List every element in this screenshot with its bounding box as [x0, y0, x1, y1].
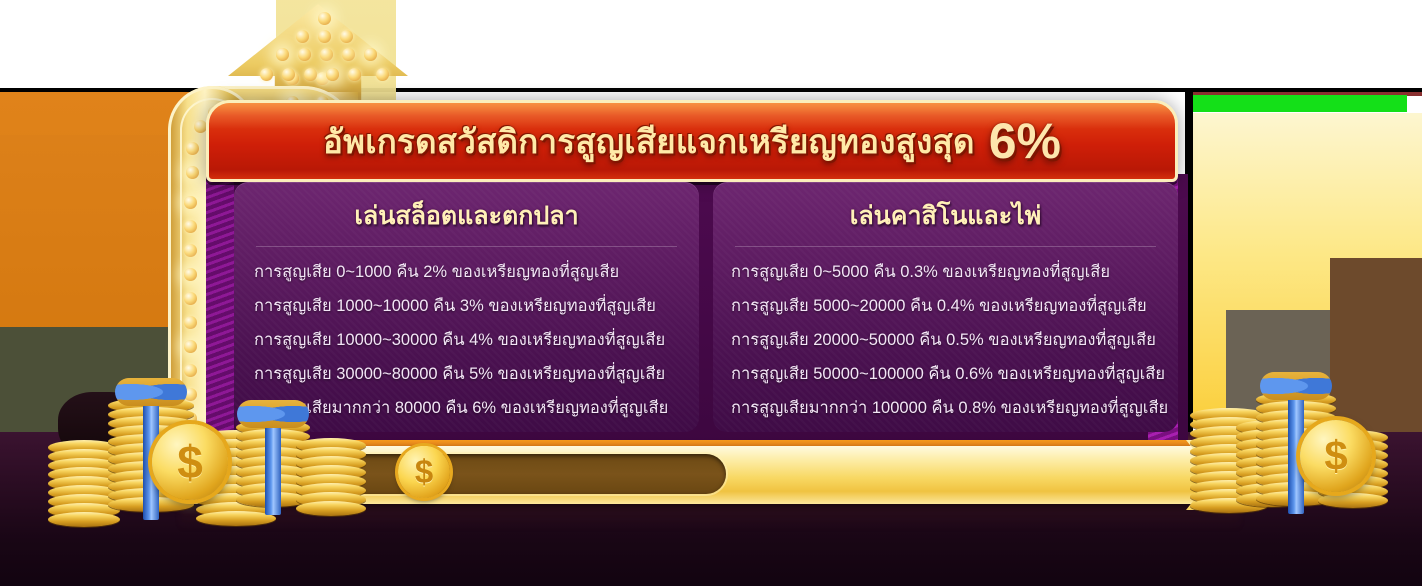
promo-title-percent: 6% — [989, 116, 1061, 166]
card-divider — [256, 246, 677, 247]
marquee-bulb — [296, 30, 309, 43]
list-item: การสูญเสีย 0~5000 คืน 0.3% ของเหรียญทองท… — [713, 255, 1178, 289]
card-rows-casino-cards: การสูญเสีย 0~5000 คืน 0.3% ของเหรียญทองท… — [713, 255, 1178, 425]
gift-bow — [1260, 372, 1332, 400]
marquee-bulb — [260, 68, 273, 81]
marquee-bulb — [376, 68, 389, 81]
promo-title-text: อัพเกรดสวัสดิการสูญเสียแจกเหรียญทองสูงสุ… — [323, 115, 975, 168]
coin-disc — [1318, 493, 1388, 508]
list-item: การสูญเสีย 5000~20000 คืน 0.4% ของเหรียญ… — [713, 289, 1178, 323]
marquee-bulb — [298, 48, 311, 61]
marquee-bulb — [186, 142, 199, 155]
card-rows-slots-fishing: การสูญเสีย 0~1000 คืน 2% ของเหรียญทองที่… — [234, 255, 699, 425]
list-item: การสูญเสีย 50000~100000 คืน 0.6% ของเหรี… — [713, 357, 1178, 391]
tier-card-group: เล่นสล็อตและตกปลา การสูญเสีย 0~1000 คืน … — [234, 182, 1178, 432]
card-title-slots-fishing: เล่นสล็อตและตกปลา — [234, 192, 699, 246]
background-brown-block — [1330, 258, 1422, 448]
marquee-bulb — [276, 48, 289, 61]
marquee-bulb — [282, 68, 295, 81]
promo-banner-stage: อัพเกรดสวัสดิการสูญเสียแจกเหรียญทองสูงสุ… — [0, 0, 1422, 586]
card-title-casino-cards: เล่นคาสิโนและไพ่ — [713, 192, 1178, 246]
marquee-bulb — [348, 68, 361, 81]
marquee-bulb — [364, 48, 377, 61]
tier-card-slots-fishing: เล่นสล็อตและตกปลา การสูญเสีย 0~1000 คืน … — [234, 182, 699, 432]
marquee-bulb — [184, 364, 197, 377]
marquee-bulb — [184, 292, 197, 305]
marquee-bulb — [184, 268, 197, 281]
marquee-bulb — [184, 220, 197, 233]
marquee-bulb — [340, 30, 353, 43]
marquee-bulb — [184, 196, 197, 209]
marquee-bulb — [326, 68, 339, 81]
list-item: การสูญเสีย 0~1000 คืน 2% ของเหรียญทองที่… — [234, 255, 699, 289]
list-item: การสูญเสีย 30000~80000 คืน 5% ของเหรียญท… — [234, 357, 699, 391]
marquee-bulb — [186, 166, 199, 179]
dollar-coin-icon: $ — [398, 446, 450, 498]
list-item: การสูญเสีย 10000~30000 คืน 4% ของเหรียญท… — [234, 323, 699, 357]
promo-title-banner: อัพเกรดสวัสดิการสูญเสียแจกเหรียญทองสูงสุ… — [206, 100, 1178, 182]
list-item: การสูญเสีย 20000~50000 คืน 0.5% ของเหรีย… — [713, 323, 1178, 357]
card-divider — [735, 246, 1156, 247]
background-green-bar — [1185, 95, 1407, 112]
tier-card-casino-cards: เล่นคาสิโนและไพ่ การสูญเสีย 0~5000 คืน 0… — [713, 182, 1178, 432]
list-item: การสูญเสียมากกว่า 100000 คืน 0.8% ของเหร… — [713, 391, 1178, 425]
list-item: การสูญเสีย 1000~10000 คืน 3% ของเหรียญทอ… — [234, 289, 699, 323]
big-dollar-coin-left: $ — [152, 424, 228, 500]
marquee-bulb — [342, 48, 355, 61]
marquee-bulb — [304, 68, 317, 81]
marquee-bulb — [184, 244, 197, 257]
coin-disc — [296, 501, 366, 516]
marquee-bulb — [184, 340, 197, 353]
marquee-bulb — [318, 12, 331, 25]
panel-stripe-left — [206, 174, 234, 442]
coin-disc — [196, 511, 276, 526]
gift-bow — [237, 400, 309, 428]
marquee-bulb — [318, 30, 331, 43]
gift-ribbon — [265, 418, 281, 515]
coin-disc — [48, 512, 120, 527]
marquee-bulb — [184, 316, 197, 329]
marquee-bulb — [320, 48, 333, 61]
big-dollar-coin-right: $ — [1300, 420, 1372, 492]
gift-bow — [115, 378, 187, 406]
